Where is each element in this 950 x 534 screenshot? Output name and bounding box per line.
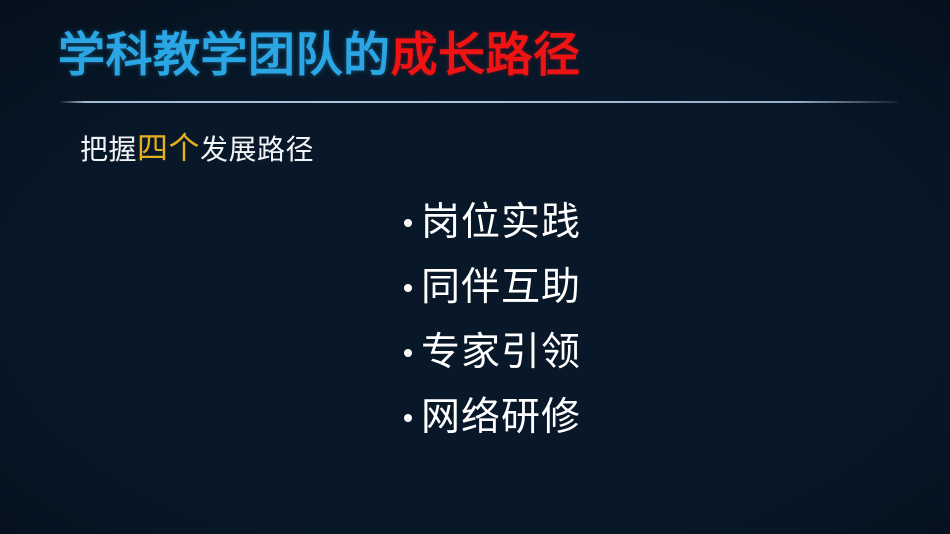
slide-title: 学科教学团队的成长路径	[58, 30, 581, 83]
list-item-label: 岗位实践	[421, 203, 581, 242]
list-item: 网络研修	[404, 385, 581, 450]
list-item-label: 专家引领	[421, 333, 581, 372]
bullet-dot-icon	[404, 219, 412, 227]
subtitle-suffix: 发展路径	[200, 133, 314, 166]
subtitle-highlight: 四个	[137, 131, 200, 167]
slide-title-accent: 成长路径	[391, 28, 581, 83]
bullet-dot-icon	[404, 284, 412, 292]
list-item-label: 同伴互助	[421, 268, 581, 307]
slide-subtitle: 把握四个发展路径	[80, 130, 314, 169]
bullet-dot-icon	[404, 414, 412, 422]
path-bullet-list: 岗位实践 同伴互助 专家引领 网络研修	[404, 190, 581, 450]
bullet-dot-icon	[404, 349, 412, 357]
list-item-label: 网络研修	[421, 398, 581, 437]
list-item: 专家引领	[404, 320, 581, 385]
presentation-slide: 学科教学团队的成长路径 把握四个发展路径 岗位实践 同伴互助 专家引领 网络研修	[0, 0, 950, 534]
list-item: 岗位实践	[404, 190, 581, 255]
subtitle-prefix: 把握	[80, 133, 137, 166]
list-item: 同伴互助	[404, 255, 581, 320]
slide-title-primary: 学科教学团队的	[58, 28, 391, 83]
title-divider-line	[60, 101, 898, 103]
